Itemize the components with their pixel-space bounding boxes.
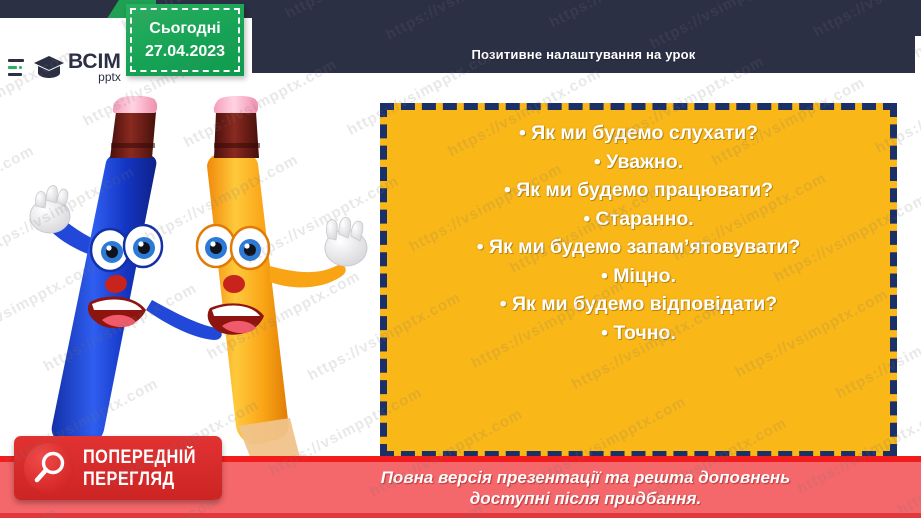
slide-canvas: ВСІМ pptx Сьогодні 27.04.2023 Позитивне … — [0, 0, 921, 518]
question-answer-list: • Як ми будемо слухати? • Уважно. • Як м… — [397, 124, 880, 343]
logo-brand-text: ВСІМ — [68, 51, 121, 72]
preview-badge[interactable]: ПОПЕРЕДНІЙ ПЕРЕГЛЯД — [14, 436, 222, 500]
header-bar: Позитивне налаштування на урок — [252, 36, 915, 73]
date-badge-value: 27.04.2023 — [145, 40, 225, 63]
list-item: • Як ми будемо запам’ятовувати? — [397, 238, 880, 258]
preview-badge-line-2: ПЕРЕГЛЯД — [83, 470, 196, 489]
list-item: • Як ми будемо слухати? — [397, 124, 880, 144]
graduation-cap-icon — [32, 51, 66, 83]
preview-badge-text: ПОПЕРЕДНІЙ ПЕРЕГЛЯД — [83, 448, 214, 489]
banner-line-2: доступні після придбання. — [470, 488, 701, 509]
list-item: • Як ми будемо відповідати? — [397, 295, 880, 315]
list-item: • Уважно. — [397, 153, 880, 173]
list-item: • Як ми будемо працювати? — [397, 181, 880, 201]
two-pencil-characters-illustration — [24, 96, 374, 464]
brand-logo[interactable]: ВСІМ pptx — [8, 44, 128, 90]
content-card: • Як ми будемо слухати? • Уважно. • Як м… — [380, 103, 897, 458]
list-item: • Міцно. — [397, 267, 880, 287]
date-badge: Сьогодні 27.04.2023 — [126, 4, 244, 76]
banner-text: Повна версія презентації та решта доповн… — [250, 462, 921, 514]
preview-badge-line-1: ПОПЕРЕДНІЙ — [83, 448, 196, 467]
magnifier-icon — [24, 443, 74, 493]
list-item: • Точно. — [397, 324, 880, 344]
banner-bottom-stripe — [0, 513, 921, 518]
page-title: Позитивне налаштування на урок — [471, 47, 695, 62]
list-item: • Старанно. — [397, 210, 880, 230]
banner-line-1: Повна версія презентації та решта доповн… — [381, 467, 791, 488]
speed-lines-icon — [8, 52, 34, 82]
date-badge-label: Сьогодні — [149, 17, 220, 40]
